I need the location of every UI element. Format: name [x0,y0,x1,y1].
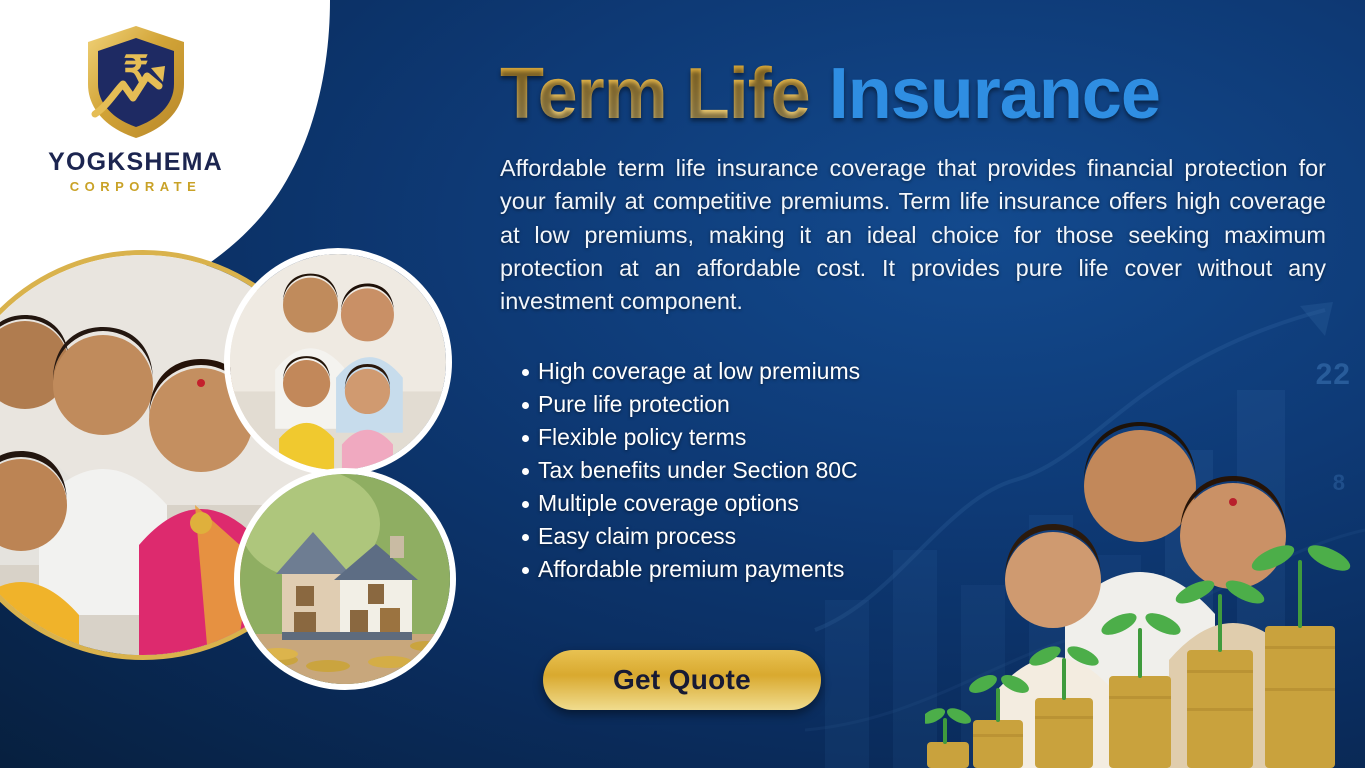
page-title: Term Life Insurance [500,58,1330,130]
young-family-couple-with-children-photo [230,254,446,470]
list-item: High coverage at low premiums [500,355,1330,388]
shield-rupee-growth-icon: ₹ [81,22,191,142]
circle-photo-house [234,468,456,690]
title-secondary: Insurance [829,54,1160,134]
brand-logo: ₹ YOGKSHEMA CORPORATE [18,22,253,193]
list-item: Affordable premium payments [500,553,1330,586]
list-item: Flexible policy terms [500,421,1330,454]
brand-name: YOGKSHEMA [18,150,253,175]
circle-photo-family-small [224,248,452,476]
hero-description: Affordable term life insurance coverage … [500,152,1326,319]
term-life-insurance-banner: 22 8 ₹ YOGKSHEMA CORPORATE [0,0,1365,768]
model-house-with-coins-photo [240,474,450,684]
get-quote-button[interactable]: Get Quote [543,650,821,710]
list-item: Multiple coverage options [500,487,1330,520]
list-item: Tax benefits under Section 80C [500,454,1330,487]
feature-list: High coverage at low premiums Pure life … [500,355,1330,586]
hero-content: Term Life Insurance Affordable term life… [500,58,1330,586]
brand-tagline: CORPORATE [18,180,253,193]
list-item: Pure life protection [500,388,1330,421]
list-item: Easy claim process [500,520,1330,553]
title-primary: Term Life [500,54,810,134]
